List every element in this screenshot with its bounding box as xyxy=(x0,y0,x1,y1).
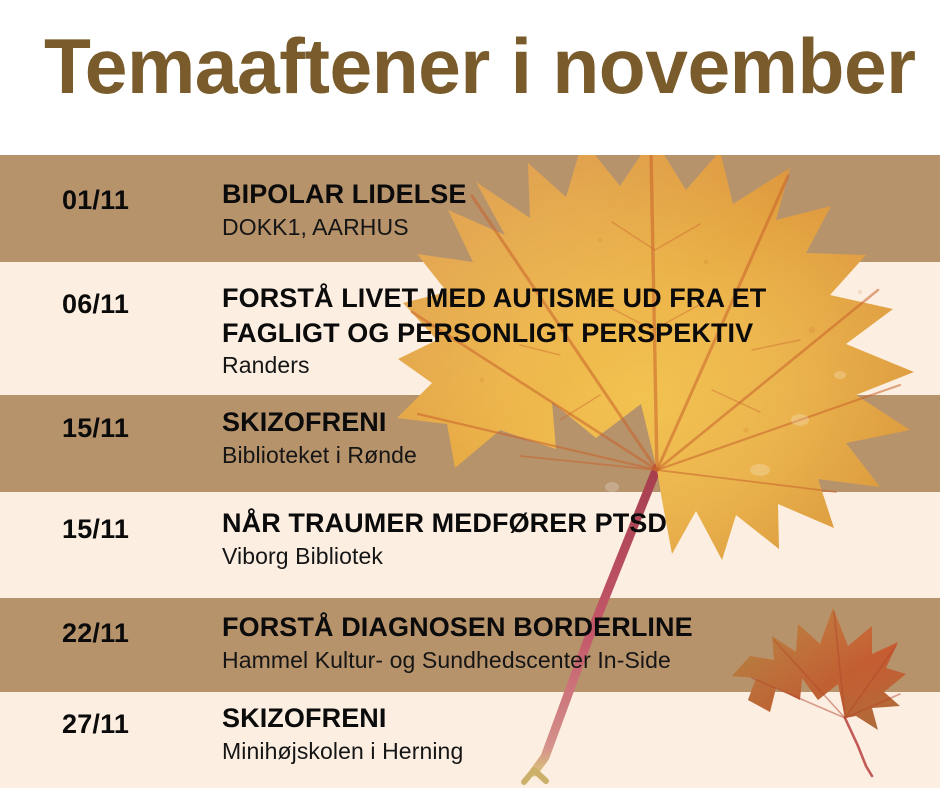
event-date: 27/11 xyxy=(62,709,129,740)
event-body: FORSTÅ DIAGNOSEN BORDERLINEHammel Kultur… xyxy=(222,610,930,674)
event-body: SKIZOFRENIMinihøjskolen i Herning xyxy=(222,701,930,765)
event-row[interactable]: 27/11SKIZOFRENIMinihøjskolen i Herning xyxy=(0,692,940,788)
event-title: SKIZOFRENI xyxy=(222,701,930,736)
event-venue: Hammel Kultur- og Sundhedscenter In-Side xyxy=(222,646,930,675)
event-body: NÅR TRAUMER MEDFØRER PTSDViborg Bibliote… xyxy=(222,506,930,570)
event-venue: Biblioteket i Rønde xyxy=(222,441,930,470)
event-row[interactable]: 15/11SKIZOFRENIBiblioteket i Rønde xyxy=(0,395,940,492)
event-row[interactable]: 15/11NÅR TRAUMER MEDFØRER PTSDViborg Bib… xyxy=(0,492,940,598)
event-venue: Randers xyxy=(222,351,930,380)
event-title: BIPOLAR LIDELSE xyxy=(222,177,930,212)
event-body: BIPOLAR LIDELSEDOKK1, AARHUS xyxy=(222,177,930,241)
event-venue: Viborg Bibliotek xyxy=(222,542,930,571)
event-body: SKIZOFRENIBiblioteket i Rønde xyxy=(222,405,930,469)
event-row[interactable]: 01/11BIPOLAR LIDELSEDOKK1, AARHUS xyxy=(0,155,940,262)
event-date: 15/11 xyxy=(62,514,129,545)
event-venue: DOKK1, AARHUS xyxy=(222,213,930,242)
event-body: FORSTÅ LIVET MED AUTISME UD FRA ET FAGLI… xyxy=(222,281,930,380)
event-venue: Minihøjskolen i Herning xyxy=(222,737,930,766)
event-row[interactable]: 22/11FORSTÅ DIAGNOSEN BORDERLINEHammel K… xyxy=(0,598,940,692)
poster-header: Temaaftener i november xyxy=(0,0,940,155)
event-date: 15/11 xyxy=(62,413,129,444)
poster-canvas: Temaaftener i november 01/11BIPOLAR LIDE… xyxy=(0,0,940,788)
event-title: FORSTÅ DIAGNOSEN BORDERLINE xyxy=(222,610,930,645)
event-title: FORSTÅ LIVET MED AUTISME UD FRA ET FAGLI… xyxy=(222,281,930,350)
event-date: 22/11 xyxy=(62,618,129,649)
event-title: NÅR TRAUMER MEDFØRER PTSD xyxy=(222,506,930,541)
event-date: 06/11 xyxy=(62,289,129,320)
event-title: SKIZOFRENI xyxy=(222,405,930,440)
event-row[interactable]: 06/11FORSTÅ LIVET MED AUTISME UD FRA ET … xyxy=(0,262,940,395)
page-title: Temaaftener i november xyxy=(44,26,916,108)
event-date: 01/11 xyxy=(62,185,129,216)
